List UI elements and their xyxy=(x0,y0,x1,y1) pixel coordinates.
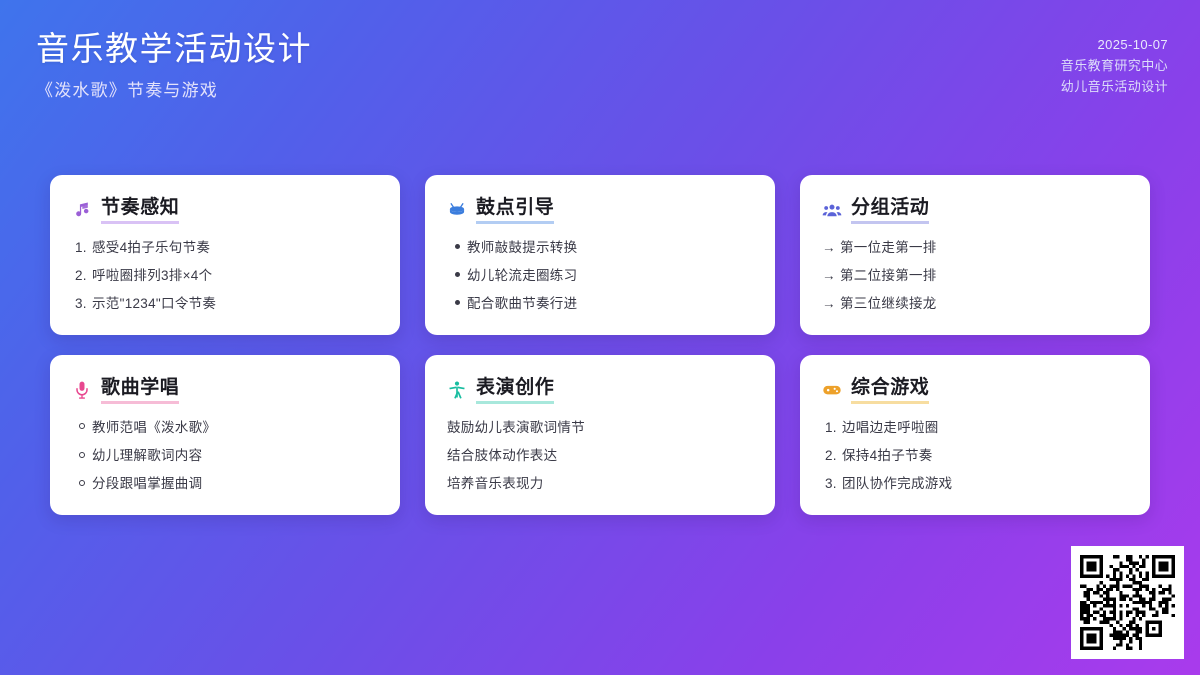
card-list: →第一位走第一排→第二位接第一排→第三位继续接龙 xyxy=(822,239,1128,314)
list-item: 3.示范"1234"口令节奏 xyxy=(72,295,378,313)
list-item: 幼儿理解歌词内容 xyxy=(72,447,378,465)
list-item-text: 配合歌曲节奏行进 xyxy=(467,295,577,313)
list-marker: 2. xyxy=(822,447,842,465)
list-item: 教师范唱《泼水歌》 xyxy=(72,419,378,437)
list-item-text: 示范"1234"口令节奏 xyxy=(92,295,216,313)
list-marker xyxy=(72,475,92,493)
list-marker xyxy=(72,447,92,465)
list-marker: → xyxy=(822,239,840,257)
list-item-text: 幼儿理解歌词内容 xyxy=(92,447,202,465)
list-item-text: 团队协作完成游戏 xyxy=(842,475,952,493)
title-block: 音乐教学活动设计 《泼水歌》节奏与游戏 xyxy=(36,28,312,101)
page-title: 音乐教学活动设计 xyxy=(36,28,312,69)
list-item: 配合歌曲节奏行进 xyxy=(447,295,753,313)
list-item: 3.团队协作完成游戏 xyxy=(822,475,1128,493)
list-marker xyxy=(447,267,467,285)
card-title: 鼓点引导 xyxy=(476,197,554,224)
slide-header: 音乐教学活动设计 《泼水歌》节奏与游戏 2025-10-07 音乐教育研究中心 … xyxy=(0,0,1200,140)
list-item: 幼儿轮流走圈练习 xyxy=(447,267,753,285)
list-item-text: 幼儿轮流走圈练习 xyxy=(467,267,577,285)
list-item: →第一位走第一排 xyxy=(822,239,1128,257)
card-title: 歌曲学唱 xyxy=(101,377,179,404)
list-marker xyxy=(447,239,467,257)
content-card: 鼓点引导教师敲鼓提示转换幼儿轮流走圈练习配合歌曲节奏行进 xyxy=(425,175,775,335)
card-header: 表演创作 xyxy=(447,377,753,404)
card-list: 1.边唱边走呼啦圈2.保持4拍子节奏3.团队协作完成游戏 xyxy=(822,419,1128,494)
list-item: 结合肢体动作表达 xyxy=(447,447,753,465)
microphone-icon xyxy=(72,380,92,400)
gamepad-icon xyxy=(822,380,842,400)
card-header: 节奏感知 xyxy=(72,197,378,224)
list-item: 1.感受4拍子乐句节奏 xyxy=(72,239,378,257)
list-marker xyxy=(447,295,467,313)
page-subtitle: 《泼水歌》节奏与游戏 xyxy=(36,76,312,101)
list-item-text: 教师敲鼓提示转换 xyxy=(467,239,577,257)
list-item: 教师敲鼓提示转换 xyxy=(447,239,753,257)
qr-code[interactable] xyxy=(1071,546,1184,659)
list-item-text: 第一位走第一排 xyxy=(840,239,937,257)
card-title: 节奏感知 xyxy=(101,197,179,224)
slide-root: 音乐教学活动设计 《泼水歌》节奏与游戏 2025-10-07 音乐教育研究中心 … xyxy=(0,0,1200,675)
list-item-text: 分段跟唱掌握曲调 xyxy=(92,475,202,493)
list-item-text: 结合肢体动作表达 xyxy=(447,447,557,465)
card-list: 教师范唱《泼水歌》幼儿理解歌词内容分段跟唱掌握曲调 xyxy=(72,419,378,494)
list-item: 2.保持4拍子节奏 xyxy=(822,447,1128,465)
content-card: 综合游戏1.边唱边走呼啦圈2.保持4拍子节奏3.团队协作完成游戏 xyxy=(800,355,1150,515)
header-meta: 2025-10-07 音乐教育研究中心 幼儿音乐活动设计 xyxy=(1061,34,1168,97)
meta-organization: 音乐教育研究中心 xyxy=(1061,55,1168,76)
content-card: 分组活动→第一位走第一排→第二位接第一排→第三位继续接龙 xyxy=(800,175,1150,335)
content-card: 节奏感知1.感受4拍子乐句节奏2.呼啦圈排列3排×4个3.示范"1234"口令节… xyxy=(50,175,400,335)
card-header: 鼓点引导 xyxy=(447,197,753,224)
card-list: 鼓励幼儿表演歌词情节结合肢体动作表达培养音乐表现力 xyxy=(447,419,753,494)
list-item: →第二位接第一排 xyxy=(822,267,1128,285)
list-marker xyxy=(72,419,92,437)
list-item-text: 第二位接第一排 xyxy=(840,267,937,285)
card-header: 分组活动 xyxy=(822,197,1128,224)
list-item: 分段跟唱掌握曲调 xyxy=(72,475,378,493)
list-item: →第三位继续接龙 xyxy=(822,295,1128,313)
card-title: 表演创作 xyxy=(476,377,554,404)
card-grid: 节奏感知1.感受4拍子乐句节奏2.呼啦圈排列3排×4个3.示范"1234"口令节… xyxy=(50,175,1150,515)
list-item-text: 教师范唱《泼水歌》 xyxy=(92,419,216,437)
list-marker: → xyxy=(822,267,840,285)
list-item: 培养音乐表现力 xyxy=(447,475,753,493)
card-list: 教师敲鼓提示转换幼儿轮流走圈练习配合歌曲节奏行进 xyxy=(447,239,753,314)
content-card: 歌曲学唱教师范唱《泼水歌》幼儿理解歌词内容分段跟唱掌握曲调 xyxy=(50,355,400,515)
drum-icon xyxy=(447,200,467,220)
content-card: 表演创作鼓励幼儿表演歌词情节结合肢体动作表达培养音乐表现力 xyxy=(425,355,775,515)
meta-date: 2025-10-07 xyxy=(1061,34,1168,55)
list-marker: 1. xyxy=(72,239,92,257)
list-marker: → xyxy=(822,295,840,313)
list-item-text: 呼啦圈排列3排×4个 xyxy=(92,267,212,285)
standing-person-icon xyxy=(447,380,467,400)
list-marker: 3. xyxy=(822,475,842,493)
list-item: 2.呼啦圈排列3排×4个 xyxy=(72,267,378,285)
card-header: 综合游戏 xyxy=(822,377,1128,404)
list-item-text: 边唱边走呼啦圈 xyxy=(842,419,939,437)
meta-category: 幼儿音乐活动设计 xyxy=(1061,76,1168,97)
list-item-text: 保持4拍子节奏 xyxy=(842,447,933,465)
music-note-icon xyxy=(72,200,92,220)
card-list: 1.感受4拍子乐句节奏2.呼啦圈排列3排×4个3.示范"1234"口令节奏 xyxy=(72,239,378,314)
list-marker: 2. xyxy=(72,267,92,285)
list-item-text: 培养音乐表现力 xyxy=(447,475,544,493)
list-item-text: 感受4拍子乐句节奏 xyxy=(92,239,210,257)
list-item-text: 第三位继续接龙 xyxy=(840,295,937,313)
qr-code-canvas xyxy=(1080,555,1175,650)
people-group-icon xyxy=(822,200,842,220)
list-item: 1.边唱边走呼啦圈 xyxy=(822,419,1128,437)
card-title: 综合游戏 xyxy=(851,377,929,404)
list-item-text: 鼓励幼儿表演歌词情节 xyxy=(447,419,585,437)
list-item: 鼓励幼儿表演歌词情节 xyxy=(447,419,753,437)
card-title: 分组活动 xyxy=(851,197,929,224)
list-marker: 3. xyxy=(72,295,92,313)
card-header: 歌曲学唱 xyxy=(72,377,378,404)
list-marker: 1. xyxy=(822,419,842,437)
